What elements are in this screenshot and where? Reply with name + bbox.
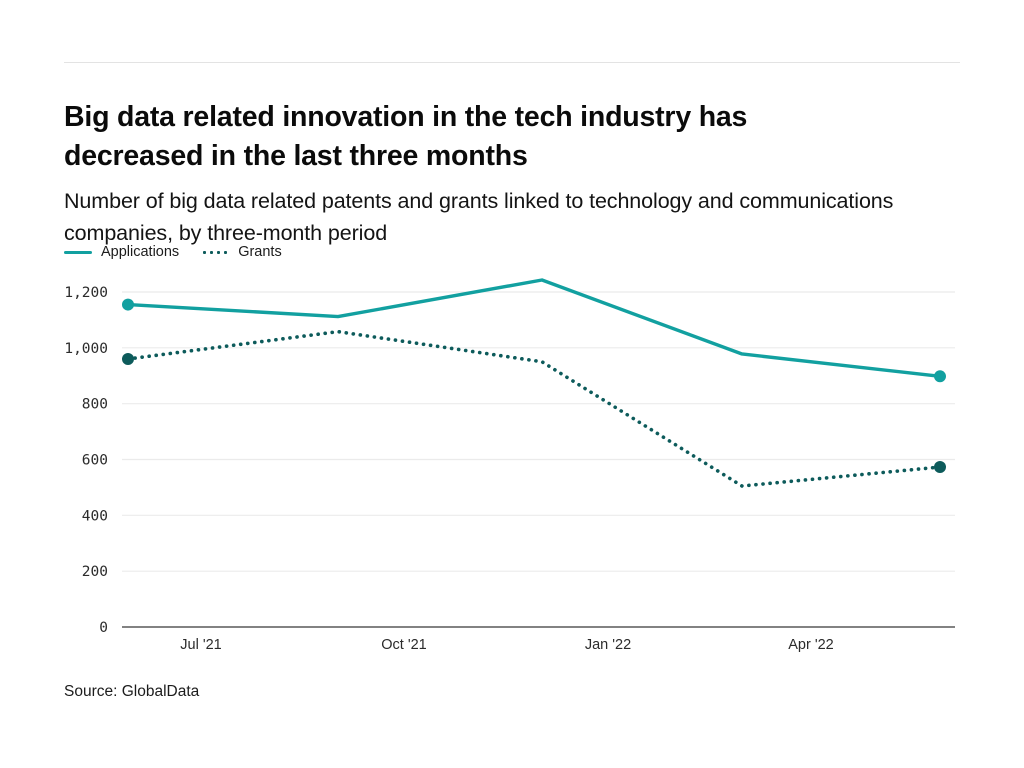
legend-label-grants: Grants [238, 241, 282, 263]
top-divider [64, 62, 960, 63]
x-axis-tick-label: Jan '22 [585, 637, 631, 653]
series-line-grants [128, 332, 940, 486]
y-axis-tick-label: 0 [99, 620, 108, 636]
legend-label-applications: Applications [101, 241, 179, 263]
source-note: Source: GlobalData [64, 681, 199, 703]
x-axis-tick-label: Oct '21 [381, 637, 426, 653]
x-axis-tick-label: Apr '22 [788, 637, 834, 653]
y-axis-tick-label: 600 [82, 453, 108, 469]
chart-page: Big data related innovation in the tech … [0, 0, 1024, 768]
gridlines [122, 292, 955, 627]
series-lines [128, 280, 940, 486]
chart-legend: Applications Grants [64, 241, 282, 263]
data-point-marker[interactable] [934, 461, 946, 473]
page-title: Big data related innovation in the tech … [64, 98, 894, 176]
y-axis-tick-labels: 02004006008001,0001,200 [64, 285, 108, 636]
x-axis-tick-label: Jul '21 [180, 637, 221, 653]
y-axis-tick-label: 1,000 [64, 341, 108, 357]
legend-item-grants[interactable]: Grants [201, 241, 282, 263]
legend-dotted-swatch-icon [201, 246, 229, 258]
y-axis-tick-label: 200 [82, 564, 108, 580]
x-axis-tick-labels: Jul '21Oct '21Jan '22Apr '22 [180, 637, 833, 653]
legend-line-swatch-icon [64, 246, 92, 258]
page-subtitle: Number of big data related patents and g… [64, 185, 914, 249]
series-markers [122, 299, 946, 473]
series-line-applications [128, 280, 940, 376]
legend-item-applications[interactable]: Applications [64, 241, 179, 263]
data-point-marker[interactable] [934, 370, 946, 382]
y-axis-tick-label: 1,200 [64, 285, 108, 301]
y-axis-tick-label: 400 [82, 508, 108, 524]
y-axis-tick-label: 800 [82, 397, 108, 413]
data-point-marker[interactable] [122, 299, 134, 311]
data-point-marker[interactable] [122, 353, 134, 365]
